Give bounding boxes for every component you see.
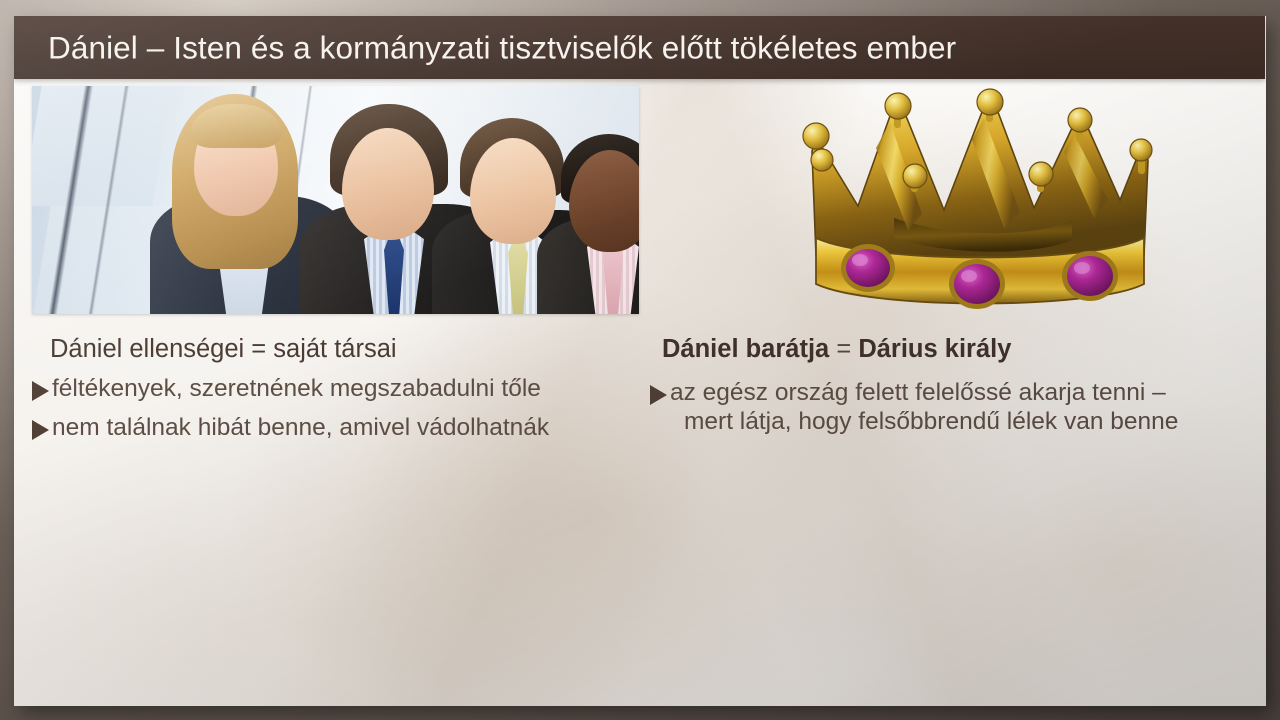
right-bullet-1-line1: az egész ország felett felelőssé akarja … xyxy=(670,379,1166,406)
crown-gem xyxy=(1062,251,1118,301)
right-heading-object: Dárius király xyxy=(858,335,1011,363)
triangle-bullet-icon xyxy=(32,420,49,440)
list-item: féltékenyek, szeretnének megszabadulni t… xyxy=(32,374,650,403)
slide-frame-background: Dániel – Isten és a kormányzati tisztvis… xyxy=(0,0,1280,720)
business-team-photo xyxy=(32,86,639,314)
right-text-column: Dániel barátja = Dárius király az egész … xyxy=(650,334,1262,437)
slide-title-bar: Dániel – Isten és a kormányzati tisztvis… xyxy=(14,16,1265,79)
crown-gem xyxy=(949,259,1005,309)
presentation-slide: Dániel – Isten és a kormányzati tisztvis… xyxy=(14,16,1266,706)
right-bullet-1-text: az egész ország felett felelőssé akarja … xyxy=(670,378,1178,437)
list-item: az egész ország felett felelőssé akarja … xyxy=(650,378,1262,437)
crown-finial xyxy=(811,149,833,171)
left-bullet-1-text: féltékenyek, szeretnének megszabadulni t… xyxy=(52,374,541,403)
crown-gem xyxy=(841,244,895,292)
right-bullet-1-line2: mert látja, hogy felsőbbrendű lélek van … xyxy=(670,407,1178,436)
left-column-heading: Dániel ellenségei = saját társai xyxy=(50,334,650,364)
right-column-heading: Dániel barátja = Dárius király xyxy=(662,334,1262,364)
right-heading-equals: = xyxy=(836,335,851,363)
triangle-bullet-icon xyxy=(650,385,667,405)
left-bullet-2-text: nem találnak hibát benne, amivel vádolha… xyxy=(52,413,549,442)
list-item: nem találnak hibát benne, amivel vádolha… xyxy=(32,413,650,442)
right-heading-subject: Dániel barátja xyxy=(662,335,829,363)
photo-person-man-pink-tie xyxy=(537,134,639,314)
page-title: Dániel – Isten és a kormányzati tisztvis… xyxy=(48,29,956,66)
golden-crown-illustration xyxy=(772,88,1192,326)
left-text-column: Dániel ellenségei = saját társai féltéke… xyxy=(32,334,650,443)
triangle-bullet-icon xyxy=(32,381,49,401)
